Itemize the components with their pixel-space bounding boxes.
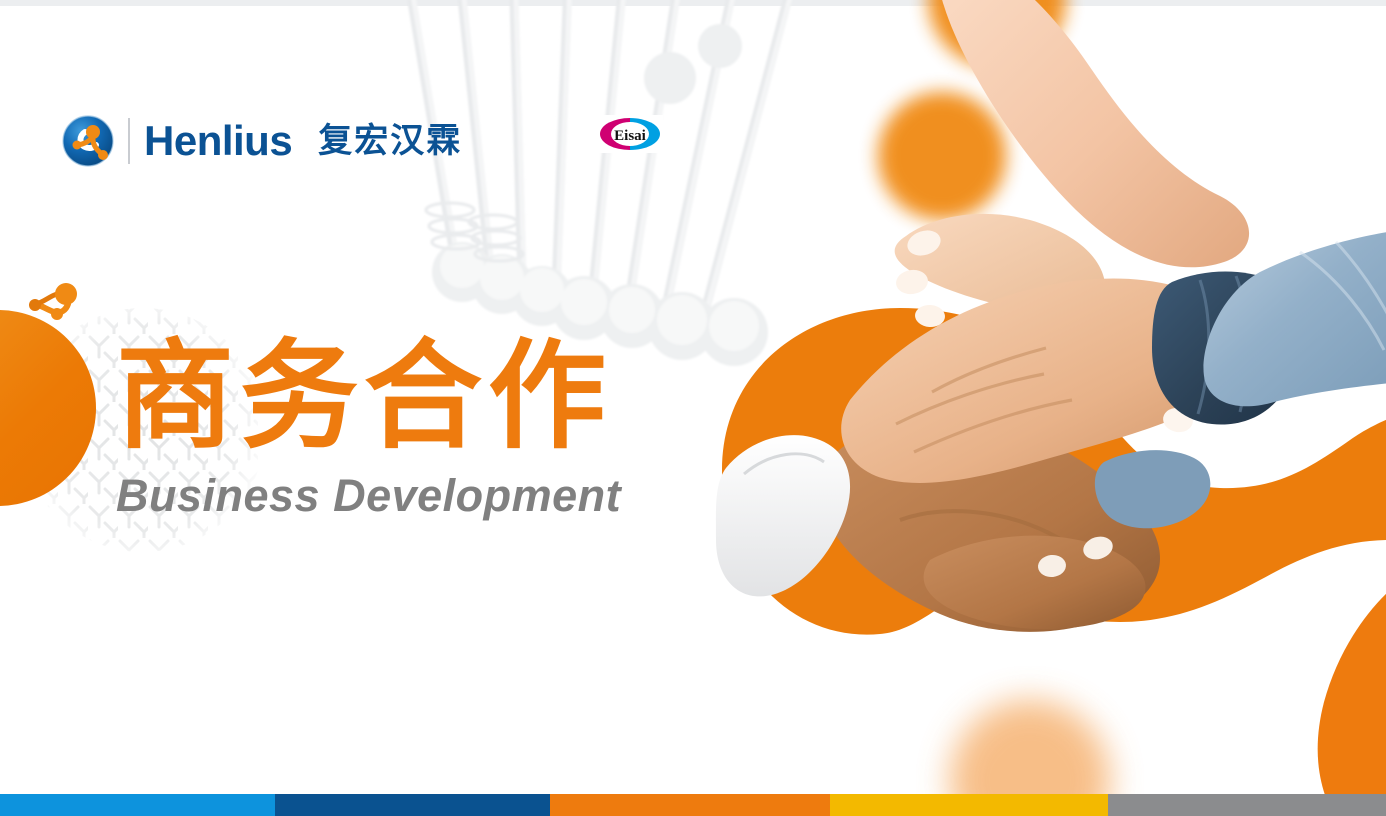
bar-segment-light-blue	[0, 794, 275, 816]
henlius-molecule-mark	[62, 115, 114, 167]
eisai-wordmark: Eisai	[614, 128, 646, 144]
eisai-logo: Eisai	[597, 115, 663, 153]
bar-segment-yellow	[830, 794, 1108, 816]
page-subtitle-english: Business Development	[116, 470, 736, 522]
orange-corner-shape	[1110, 590, 1386, 800]
henlius-logo: Henlius 复宏汉霖	[62, 108, 462, 174]
bar-segment-gray	[1108, 794, 1386, 816]
presentation-slide: 商务合作 Business Development	[0, 0, 1386, 816]
molecule-node-icon	[24, 282, 86, 328]
page-title-chinese: 商务合作	[116, 336, 736, 456]
hands-stacked-together-photo	[700, 0, 1386, 800]
left-orange-circle	[0, 310, 96, 506]
henlius-chinese-name: 复宏汉霖	[318, 124, 462, 158]
bar-segment-dark-navy	[275, 794, 550, 816]
logo-divider	[128, 118, 130, 164]
bar-segment-orange	[550, 794, 830, 816]
orange-blob-bottom	[950, 700, 1110, 800]
henlius-wordmark: Henlius	[144, 120, 292, 162]
bottom-color-bar	[0, 794, 1386, 816]
title-block: 商务合作 Business Development	[116, 336, 736, 522]
